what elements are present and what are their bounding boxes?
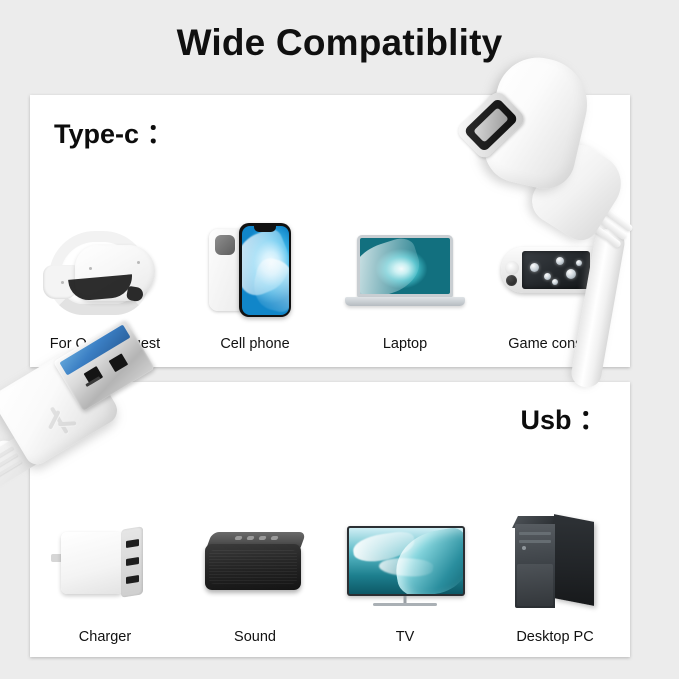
type-c-panel: Type-c ： For Oculus quest [30,95,630,367]
device-label: TV [396,629,415,645]
vr-headset-icon [41,217,169,322]
laptop-icon [341,217,469,322]
device-label: Game console [508,336,602,352]
device-label: Charger [79,629,131,645]
smartphone-icon [191,217,319,322]
handheld-console-icon [491,217,619,322]
desktop-tower-icon [491,510,619,615]
bluetooth-speaker-icon [191,510,319,615]
device-label: For Oculus quest [50,336,160,352]
device-label: Desktop PC [516,629,593,645]
device-oculus-quest[interactable]: For Oculus quest [30,157,180,352]
device-cell-phone[interactable]: Cell phone [180,157,330,352]
usb-panel: Usb ： Charger [30,382,630,657]
type-c-device-row: For Oculus quest Cell phone [30,157,630,352]
device-sound[interactable]: Sound [180,450,330,645]
device-charger[interactable]: Charger [30,450,180,645]
device-laptop[interactable]: Laptop [330,157,480,352]
device-game-console[interactable]: Game console [480,157,630,352]
device-tv[interactable]: TV [330,450,480,645]
television-icon [341,510,469,615]
usb-device-row: Charger Sound [30,450,630,645]
usb-heading: Usb ： [520,398,606,437]
page-title: Wide Compatiblity [0,22,679,64]
device-label: Sound [234,629,276,645]
wall-charger-icon [41,510,169,615]
device-label: Cell phone [220,336,289,352]
device-desktop-pc[interactable]: Desktop PC [480,450,630,645]
device-label: Laptop [383,336,427,352]
type-c-heading: Type-c ： [54,112,174,151]
infographic-canvas: Wide Compatiblity Type-c ： For Oculus qu… [0,0,679,679]
